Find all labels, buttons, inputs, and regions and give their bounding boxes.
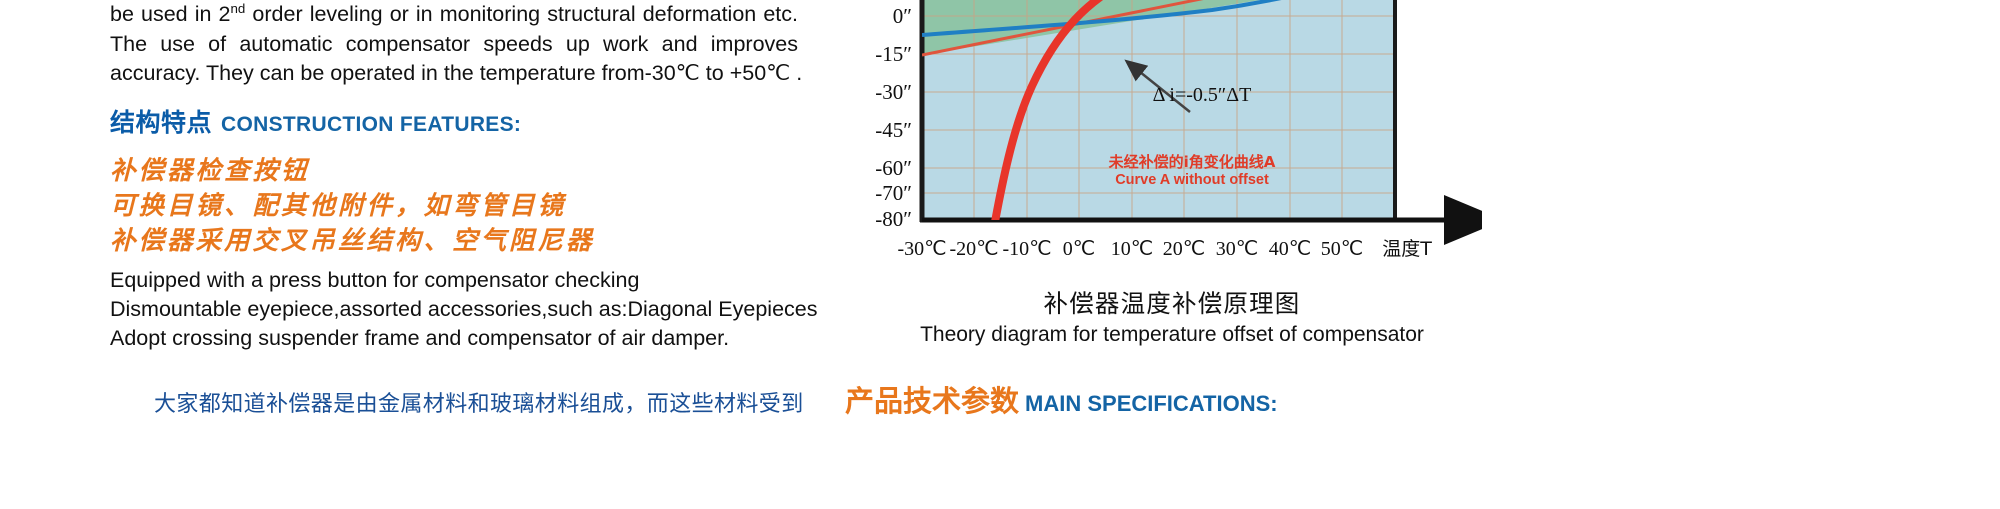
- x-tick-label: 40℃: [1269, 238, 1311, 260]
- main-specifications-heading: 产品技术参数MAIN SPECIFICATIONS:: [845, 378, 1278, 418]
- y-tick-label: -60″: [875, 156, 912, 180]
- x-axis-tick-labels: -30℃ -20℃ -10℃ 0℃ 10℃ 20℃ 30℃ 40℃ 50℃ 温度…: [897, 238, 1432, 260]
- x-tick-label: -30℃: [897, 238, 946, 260]
- feature-list-en: Equipped with a press button for compens…: [110, 266, 798, 353]
- x-tick-label: -10℃: [1002, 238, 1051, 260]
- x-tick-label: 0℃: [1063, 238, 1095, 260]
- intro-line-2: The use of automatic compensator speeds …: [110, 30, 798, 60]
- intro-paragraph: be used in 2nd order leveling or in moni…: [110, 0, 798, 89]
- y-tick-label: -15″: [875, 42, 912, 66]
- feature-cn-line: 补偿器检查按钮: [110, 154, 798, 189]
- main-specifications-heading-en: MAIN SPECIFICATIONS:: [1025, 391, 1278, 416]
- feature-cn-line: 补偿器采用交叉吊丝结构、空气阻尼器: [110, 224, 798, 259]
- y-tick-label: -80″: [875, 207, 912, 231]
- chart-caption-en: Theory diagram for temperature offset of…: [862, 320, 1482, 350]
- x-tick-label: 20℃: [1163, 238, 1205, 260]
- chart-plot-area: 0″ -15″ -30″ -45″ -60″ -70″ -80″ -30℃ -2…: [862, 0, 1482, 270]
- curve-a-annotation-en: Curve A without offset: [1115, 172, 1269, 188]
- delta-i-annotation: Δ i=-0.5″ΔT: [1153, 84, 1252, 106]
- x-axis-title: 温度T: [1382, 238, 1432, 260]
- x-tick-label: 50℃: [1321, 238, 1363, 260]
- main-specifications-heading-cn: 产品技术参数: [845, 384, 1019, 418]
- feature-list-cn: 补偿器检查按钮 可换目镜、配其他附件，如弯管目镜 补偿器采用交叉吊丝结构、空气阻…: [110, 154, 798, 259]
- feature-en-line: Dismountable eyepiece,assorted accessori…: [110, 295, 798, 324]
- curve-a-annotation-cn: 未经补偿的i角变化曲线A: [1108, 153, 1276, 171]
- construction-features-heading-en: CONSTRUCTION FEATURES:: [221, 113, 521, 136]
- brochure-page: be used in 2nd order leveling or in moni…: [0, 0, 2000, 509]
- feature-en-line: Adopt crossing suspender frame and compe…: [110, 324, 798, 353]
- feature-en-line: Equipped with a press button for compens…: [110, 266, 798, 295]
- y-tick-label: -45″: [875, 118, 912, 142]
- construction-features-heading: 结构特点CONSTRUCTION FEATURES:: [110, 103, 798, 139]
- intro-line-3: accuracy. They can be operated in the te…: [110, 59, 798, 89]
- chart-caption-cn: 补偿器温度补偿原理图: [862, 288, 1482, 320]
- y-axis-tick-labels: 0″ -15″ -30″ -45″ -60″ -70″ -80″: [875, 4, 912, 231]
- x-tick-label: 10℃: [1111, 238, 1153, 260]
- y-tick-label: 0″: [893, 4, 912, 28]
- x-tick-label: 30℃: [1216, 238, 1258, 260]
- chart-svg: 0″ -15″ -30″ -45″ -60″ -70″ -80″ -30℃ -2…: [862, 0, 1482, 270]
- left-text-column: be used in 2nd order leveling or in moni…: [110, 0, 798, 418]
- ordinal-suffix: nd: [231, 1, 246, 16]
- closing-chinese-paragraph: 大家都知道补偿器是由金属材料和玻璃材料组成，而这些材料受到: [110, 386, 798, 418]
- x-tick-label: -20℃: [949, 238, 998, 260]
- intro-line-1-post: order leveling or in monitoring structur…: [245, 2, 798, 26]
- chart-caption-block: 补偿器温度补偿原理图 Theory diagram for temperatur…: [862, 288, 1482, 350]
- y-tick-label: -70″: [875, 181, 912, 205]
- construction-features-heading-cn: 结构特点: [110, 108, 212, 137]
- intro-line-1-pre: be used in 2: [110, 2, 231, 26]
- feature-cn-line: 可换目镜、配其他附件，如弯管目镜: [110, 189, 798, 224]
- temperature-offset-chart: 0″ -15″ -30″ -45″ -60″ -70″ -80″ -30℃ -2…: [862, 0, 1482, 270]
- intro-line-1: be used in 2nd order leveling or in moni…: [110, 0, 798, 30]
- y-tick-label: -30″: [875, 80, 912, 104]
